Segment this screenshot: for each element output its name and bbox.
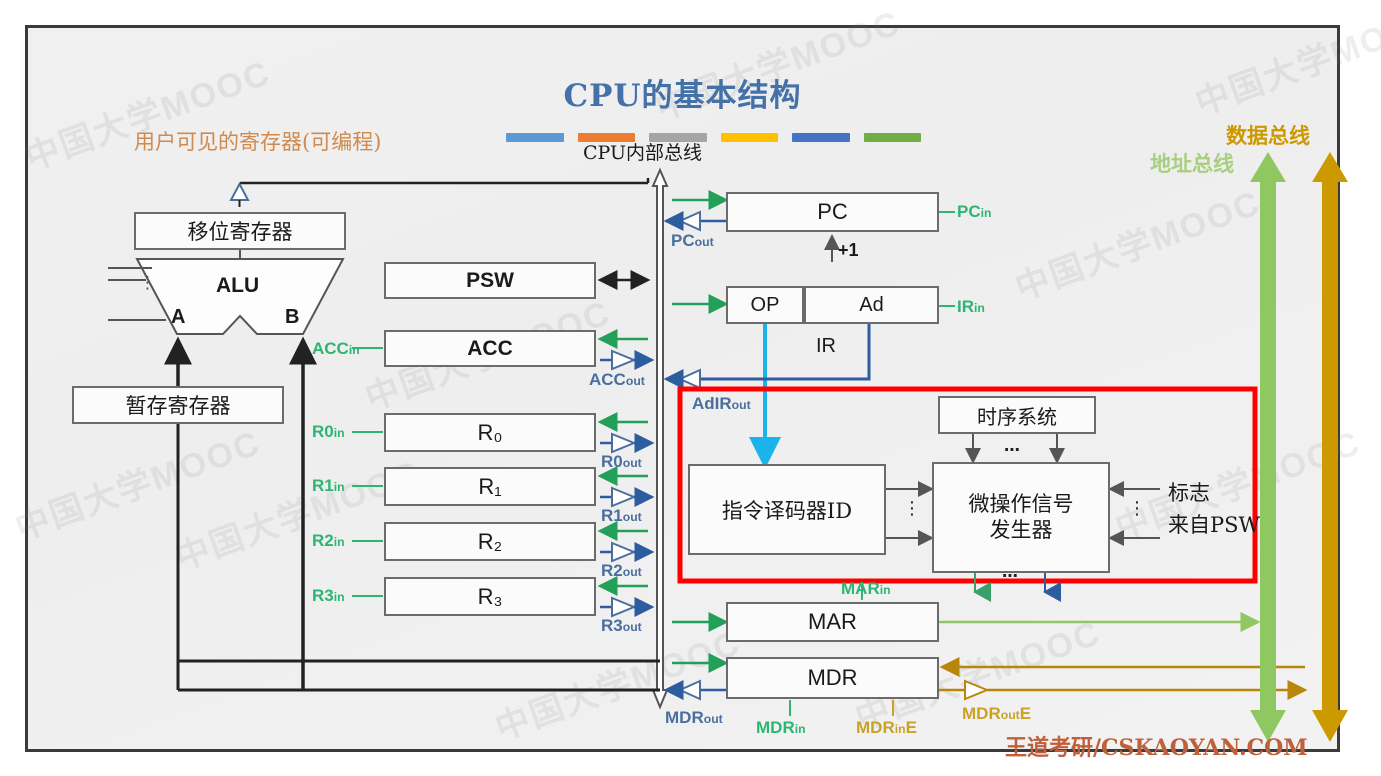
signal-sub: in — [795, 722, 806, 736]
ir-op-field[interactable]: OP — [726, 286, 804, 324]
page-title: CPU的基本结构 — [28, 70, 1337, 115]
signal-sub: out — [623, 456, 642, 470]
signal-text: R0 — [312, 422, 334, 441]
signal-sub: out — [695, 235, 714, 249]
signal-r0-in: R0in — [312, 422, 345, 442]
signal-text: R0 — [601, 452, 623, 471]
signal-mdr-in-e: MDRinE — [856, 718, 917, 738]
register-box-r2[interactable]: R₂ — [384, 522, 596, 561]
signal-text: R1 — [312, 476, 334, 495]
generator-output-ellipsis-icon: ⋯ — [1002, 566, 1018, 586]
instruction-decoder-box[interactable]: 指令译码器ID — [688, 464, 886, 555]
signal-pc-in: PCin — [957, 202, 992, 222]
data-bus-label: 数据总线 — [1226, 120, 1310, 150]
alu-control-dots-icon: ⋮ — [139, 278, 156, 288]
signal-text: MDR — [756, 718, 795, 737]
signal-text: PC — [671, 231, 695, 250]
signal-text: R3 — [312, 586, 334, 605]
brand-watermark: 王道考研/CSKAOYAN.COM — [1005, 730, 1308, 762]
signal-r0-out: R0out — [601, 452, 642, 472]
signal-r2-in: R2in — [312, 531, 345, 551]
accent-bar — [506, 133, 564, 142]
temp-register-box[interactable]: 暂存寄存器 — [72, 386, 284, 424]
accent-bar — [792, 133, 850, 142]
flags-line2: 来自PSW — [1168, 510, 1260, 542]
flags-from-psw-label: 标志 来自PSW — [1168, 478, 1260, 541]
signal-sub: out — [704, 712, 723, 726]
address-bus-label: 地址总线 — [1150, 148, 1234, 178]
signal-sub: out — [623, 620, 642, 634]
signal-text: R3 — [601, 616, 623, 635]
signal-sub: in — [334, 590, 345, 604]
signal-sub: out — [623, 510, 642, 524]
signal-generator-line2: 发生器 — [990, 518, 1053, 544]
signal-sub: in — [334, 535, 345, 549]
signal-mdr-out-e: MDRoutE — [962, 704, 1031, 724]
signal-text: R2 — [312, 531, 334, 550]
signal-sub: in — [334, 426, 345, 440]
watermark-bg: 中国大学MOOC — [1007, 175, 1266, 309]
signal-sub: out — [732, 398, 751, 412]
cpu-structure-diagram: 中国大学MOOC 中国大学MOOC 中国大学MOOC 中国大学MOOC 中国大学… — [0, 0, 1381, 776]
internal-bus-label: CPU内部总线 — [583, 138, 702, 165]
signal-ir-in: IRin — [957, 297, 985, 317]
ir-ad-field[interactable]: Ad — [804, 286, 939, 324]
alu-input-a-label: A — [171, 306, 185, 329]
accent-bar — [864, 133, 922, 142]
signal-text: IR — [957, 297, 974, 316]
signal-text: ACC — [589, 370, 626, 389]
signal-sub: in — [334, 480, 345, 494]
register-box-mdr[interactable]: MDR — [726, 657, 939, 699]
register-box-r1[interactable]: R₁ — [384, 467, 596, 506]
register-box-psw[interactable]: PSW — [384, 262, 596, 299]
register-box-r3[interactable]: R₃ — [384, 577, 596, 616]
signal-sub: out — [623, 565, 642, 579]
signal-text: PC — [957, 202, 981, 221]
signal-adir-out: AdIRout — [692, 394, 751, 414]
signal-tail: E — [906, 718, 917, 737]
signal-r1-out: R1out — [601, 506, 642, 526]
signal-mdr-out: MDRout — [665, 708, 723, 728]
signal-text: MDR — [665, 708, 704, 727]
decoder-vdots-icon: ⋮ — [903, 498, 921, 519]
watermark-bg: 中国大学MOOC — [7, 415, 266, 549]
signal-sub: out — [1001, 708, 1020, 722]
signal-sub: in — [880, 583, 891, 597]
alu-label: ALU — [216, 274, 259, 298]
signal-sub: in — [974, 301, 985, 315]
signal-sub: in — [981, 206, 992, 220]
signal-text: AdIR — [692, 394, 732, 413]
signal-r3-in: R3in — [312, 586, 345, 606]
register-box-pc[interactable]: PC — [726, 192, 939, 232]
signal-text: R1 — [601, 506, 623, 525]
signal-r1-in: R1in — [312, 476, 345, 496]
flags-vdots-icon: ⋮ — [1128, 498, 1146, 519]
user-visible-registers-note: 用户可见的寄存器(可编程) — [134, 126, 381, 156]
signal-sub: in — [349, 343, 360, 357]
micro-operation-signal-generator-box[interactable]: 微操作信号 发生器 — [932, 462, 1110, 573]
signal-acc-in: ACCin — [312, 339, 360, 359]
ir-label: IR — [816, 335, 836, 358]
signal-generator-line1: 微操作信号 — [969, 492, 1074, 518]
signal-sub: out — [626, 374, 645, 388]
signal-text: MDR — [962, 704, 1001, 723]
flags-line1: 标志 — [1168, 478, 1260, 510]
signal-r3-out: R3out — [601, 616, 642, 636]
signal-text: R2 — [601, 561, 623, 580]
shift-register-box[interactable]: 移位寄存器 — [134, 212, 346, 250]
accent-bar — [721, 133, 779, 142]
signal-acc-out: ACCout — [589, 370, 645, 390]
register-box-r0[interactable]: R₀ — [384, 413, 596, 452]
signal-tail: E — [1020, 704, 1031, 723]
alu-input-b-label: B — [285, 306, 299, 329]
pc-increment-label: +1 — [838, 240, 859, 261]
title-accent-bars — [506, 133, 921, 142]
register-box-acc[interactable]: ACC — [384, 330, 596, 367]
signal-pc-out: PCout — [671, 231, 714, 251]
register-box-mar[interactable]: MAR — [726, 602, 939, 642]
signal-text: MAR — [841, 579, 880, 598]
signal-r2-out: R2out — [601, 561, 642, 581]
signal-sub: in — [895, 722, 906, 736]
signal-text: MDR — [856, 718, 895, 737]
timing-system-box[interactable]: 时序系统 — [938, 396, 1096, 434]
signal-mdr-in: MDRin — [756, 718, 806, 738]
signal-mar-in: MARin — [841, 579, 891, 599]
timing-ellipsis-icon: ⋯ — [1004, 440, 1020, 460]
signal-text: ACC — [312, 339, 349, 358]
